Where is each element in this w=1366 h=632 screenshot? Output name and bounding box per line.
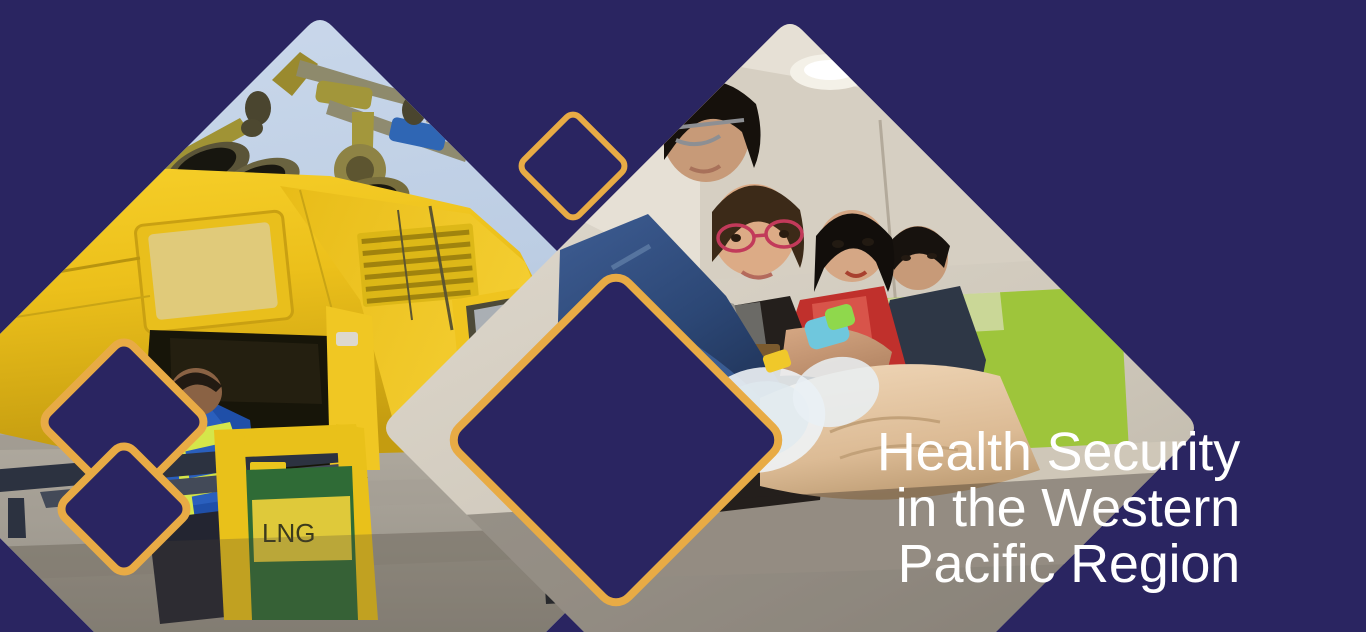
title-line-3: Pacific Region: [720, 536, 1240, 592]
health-security-banner: LNG: [0, 0, 1366, 632]
title-line-2: in the Western: [720, 480, 1240, 536]
page-title: Health Security in the Western Pacific R…: [720, 424, 1240, 592]
title-line-1: Health Security: [720, 424, 1240, 480]
